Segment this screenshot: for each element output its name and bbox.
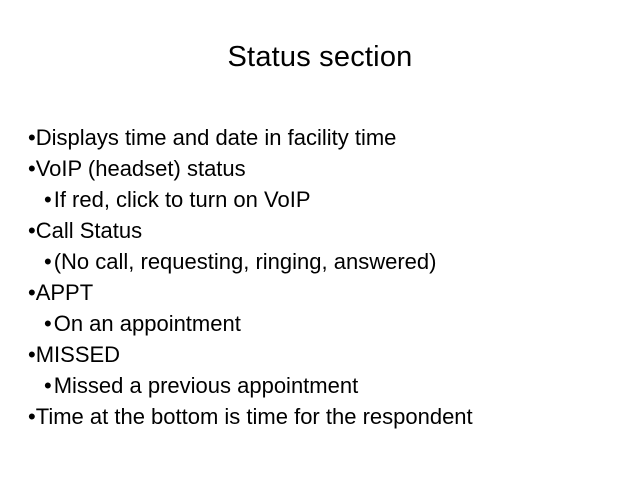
list-item: •On an appointment <box>24 308 620 339</box>
list-item: •MISSED <box>24 339 620 370</box>
list-item-label: Call Status <box>36 218 142 243</box>
bullet-icon: • <box>28 215 36 246</box>
bullet-icon: • <box>44 184 52 215</box>
list-item-label: MISSED <box>36 342 120 367</box>
list-item: •Displays time and date in facility time <box>24 122 620 153</box>
list-item: •Call Status <box>24 215 620 246</box>
list-item: •APPT <box>24 277 620 308</box>
list-item: •Time at the bottom is time for the resp… <box>24 401 620 432</box>
bullet-icon: • <box>28 153 36 184</box>
slide-bullet-list: •Displays time and date in facility time… <box>24 122 620 432</box>
bullet-icon: • <box>44 370 52 401</box>
bullet-icon: • <box>28 339 36 370</box>
bullet-icon: • <box>44 246 52 277</box>
list-item-label: VoIP (headset) status <box>36 156 246 181</box>
list-item-label: Missed a previous appointment <box>54 373 359 398</box>
page-title: Status section <box>0 38 640 76</box>
bullet-icon: • <box>28 277 36 308</box>
bullet-icon: • <box>28 401 36 432</box>
presentation-slide: Status section •Displays time and date i… <box>0 0 640 480</box>
list-item-label: Time at the bottom is time for the respo… <box>36 404 473 429</box>
list-item: •Missed a previous appointment <box>24 370 620 401</box>
list-item-label: (No call, requesting, ringing, answered) <box>54 249 437 274</box>
list-item-label: On an appointment <box>54 311 241 336</box>
list-item-label: APPT <box>36 280 93 305</box>
bullet-icon: • <box>28 122 36 153</box>
list-item-label: If red, click to turn on VoIP <box>54 187 311 212</box>
bullet-icon: • <box>44 308 52 339</box>
list-item: •If red, click to turn on VoIP <box>24 184 620 215</box>
list-item: •VoIP (headset) status <box>24 153 620 184</box>
list-item: •(No call, requesting, ringing, answered… <box>24 246 620 277</box>
list-item-label: Displays time and date in facility time <box>36 125 397 150</box>
